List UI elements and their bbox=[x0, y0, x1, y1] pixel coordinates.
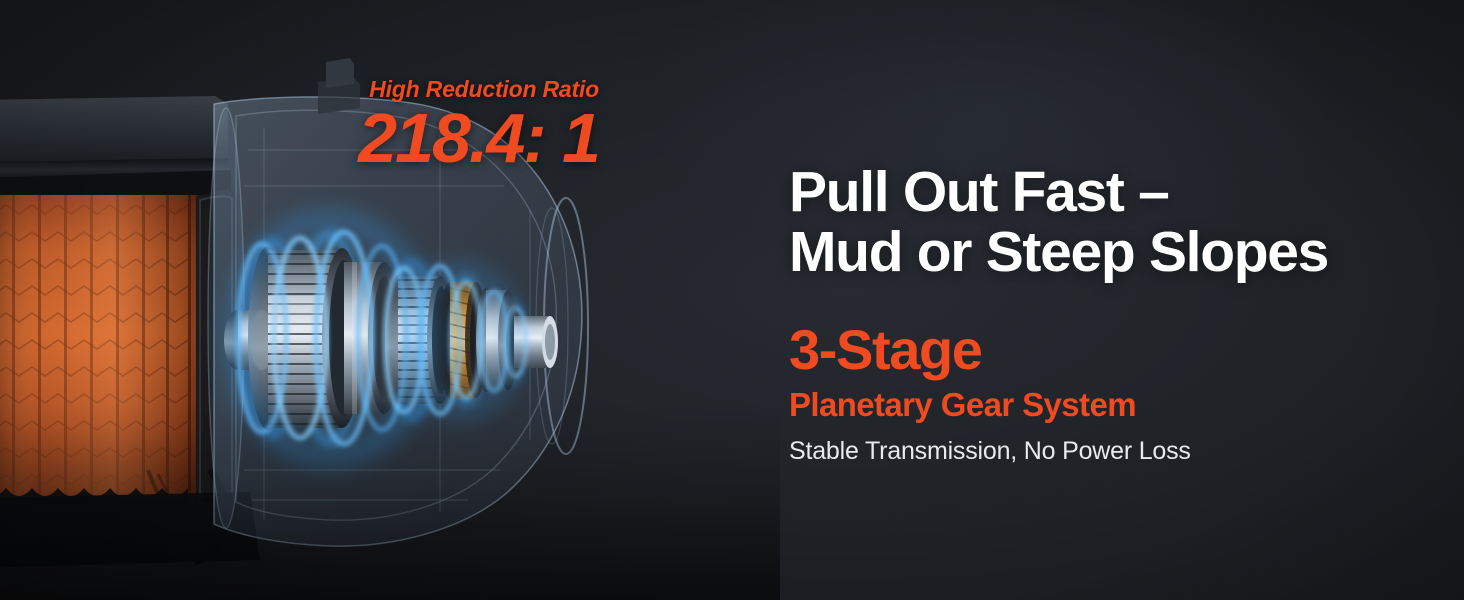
synthetic-rope-spool bbox=[0, 195, 210, 508]
marketing-copy-column: Pull Out Fast – Mud or Steep Slopes 3-St… bbox=[789, 163, 1409, 466]
product-feature-banner: High Reduction Ratio 218.4: 1 Pull Out F… bbox=[0, 0, 1464, 600]
reduction-ratio-label: High Reduction Ratio bbox=[299, 78, 599, 101]
subhead-stage-count: 3-Stage bbox=[789, 282, 1409, 378]
headline: Pull Out Fast – Mud or Steep Slopes bbox=[789, 163, 1409, 282]
feature-caption: Stable Transmission, No Power Loss bbox=[789, 423, 1409, 466]
subhead-gear-system: Planetary Gear System bbox=[789, 378, 1409, 423]
reduction-ratio-callout: High Reduction Ratio 218.4: 1 bbox=[299, 78, 599, 174]
reduction-ratio-value: 218.4: 1 bbox=[299, 101, 599, 174]
